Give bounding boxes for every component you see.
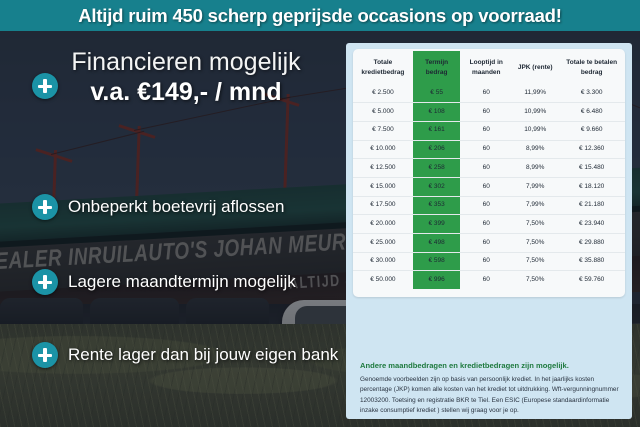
table-body: € 2.500€ 556011,99%€ 3.300 € 5.000€ 1086… [353,85,625,290]
table-header-row: Totale kredietbedrag Termijn bedrag Loop… [353,51,625,85]
table-row: € 17.500€ 353607,99%€ 21.180 [353,196,625,215]
cell-monthly-amount: € 353 [413,196,461,215]
cell-total-payable: € 3.300 [558,85,625,103]
cell-duration: 60 [460,103,512,122]
headline-secondary: v.a. €149,- / mnd [30,77,342,108]
cell-monthly-amount: € 996 [413,271,461,289]
cell-total-payable: € 12.360 [558,140,625,159]
table-row: € 5.000€ 1086010,99%€ 6.480 [353,103,625,122]
header-text: JPK (rente) [518,64,553,71]
cell-total-credit: € 25.000 [353,234,413,253]
cell-total-credit: € 7.500 [353,121,413,140]
cell-interest: 7,50% [512,252,558,271]
table-row: € 20.000€ 399607,50%€ 23.940 [353,215,625,234]
note-body: Genoemde voorbeelden zijn op basis van p… [360,375,622,417]
cell-duration: 60 [460,85,512,103]
cell-interest: 7,99% [512,177,558,196]
cell-monthly-amount: € 399 [413,215,461,234]
credit-info-card: Totale kredietbedrag Termijn bedrag Loop… [346,43,632,419]
cell-monthly-amount: € 498 [413,234,461,253]
benefit-label: Onbeperkt boetevrij aflossen [68,197,284,217]
cell-duration: 60 [460,121,512,140]
cell-total-credit: € 20.000 [353,215,413,234]
table-row: € 2.500€ 556011,99%€ 3.300 [353,85,625,103]
cell-total-credit: € 15.000 [353,177,413,196]
table-row: € 25.000€ 498607,50%€ 29.880 [353,234,625,253]
header-text: Looptijd in maanden [470,59,503,76]
benefit-item-2: Lagere maandtermijn mogelijk [32,269,337,295]
cell-interest: 7,99% [512,196,558,215]
cell-total-credit: € 50.000 [353,271,413,289]
cell-duration: 60 [460,196,512,215]
cell-total-credit: € 5.000 [353,103,413,122]
table-row: € 7.500€ 1616010,99%€ 9.660 [353,121,625,140]
table-row: € 30.000€ 598607,50%€ 35.880 [353,252,625,271]
cell-interest: 7,50% [512,271,558,289]
cell-total-payable: € 21.180 [558,196,625,215]
cell-total-credit: € 17.500 [353,196,413,215]
cell-monthly-amount: € 55 [413,85,461,103]
cell-duration: 60 [460,271,512,289]
benefit-label: Lagere maandtermijn mogelijk [68,272,296,292]
table-row: € 15.000€ 302607,99%€ 18.120 [353,177,625,196]
benefit-item-1: Onbeperkt boetevrij aflossen [32,194,337,220]
cell-duration: 60 [460,234,512,253]
cell-total-credit: € 2.500 [353,85,413,103]
cell-interest: 10,99% [512,103,558,122]
note-title: Andere maandbedragen en kredietbedragen … [360,361,618,371]
cell-monthly-amount: € 108 [413,103,461,122]
benefit-label: Rente lager dan bij jouw eigen bank [68,345,338,365]
header-text: Termijn bedrag [425,59,448,76]
cell-monthly-amount: € 161 [413,121,461,140]
cell-interest: 8,99% [512,140,558,159]
cell-monthly-amount: € 258 [413,159,461,178]
cell-total-payable: € 9.660 [558,121,625,140]
cell-monthly-amount: € 598 [413,252,461,271]
promo-banner: Altijd ruim 450 scherp geprijsde occasio… [0,0,640,427]
cell-duration: 60 [460,252,512,271]
cell-duration: 60 [460,177,512,196]
cell-monthly-amount: € 302 [413,177,461,196]
header-bar: Altijd ruim 450 scherp geprijsde occasio… [0,0,640,31]
rates-table: Totale kredietbedrag Termijn bedrag Loop… [353,51,625,289]
column-header-interest: JPK (rente) [512,51,558,85]
cell-interest: 7,50% [512,234,558,253]
cell-total-credit: € 10.000 [353,140,413,159]
cell-total-payable: € 29.880 [558,234,625,253]
cell-total-payable: € 59.760 [558,271,625,289]
table-row: € 12.500€ 258608,99%€ 15.480 [353,159,625,178]
page-title: Altijd ruim 450 scherp geprijsde occasio… [78,5,562,27]
plus-icon [32,194,58,220]
cell-total-payable: € 23.940 [558,215,625,234]
cell-duration: 60 [460,159,512,178]
cell-total-payable: € 6.480 [558,103,625,122]
cell-total-payable: € 18.120 [558,177,625,196]
rates-table-container: Totale kredietbedrag Termijn bedrag Loop… [353,49,625,297]
column-header-total-payable: Totale te betalen bedrag [558,51,625,85]
column-header-total-credit: Totale kredietbedrag [353,51,413,85]
headline-block: Financieren mogelijk v.a. €149,- / mnd [30,49,342,108]
plus-icon [32,269,58,295]
cell-duration: 60 [460,215,512,234]
headline-primary: Financieren mogelijk [30,49,342,77]
cell-interest: 10,99% [512,121,558,140]
left-content-column: Financieren mogelijk v.a. €149,- / mnd O… [0,31,345,427]
plus-icon [32,342,58,368]
cell-interest: 8,99% [512,159,558,178]
table-head: Totale kredietbedrag Termijn bedrag Loop… [353,51,625,85]
cell-total-payable: € 15.480 [558,159,625,178]
cell-monthly-amount: € 206 [413,140,461,159]
table-row: € 50.000€ 996607,50%€ 59.760 [353,271,625,289]
column-header-duration: Looptijd in maanden [460,51,512,85]
cell-total-payable: € 35.880 [558,252,625,271]
column-header-monthly-amount: Termijn bedrag [413,51,461,85]
header-text: Totale te betalen bedrag [566,59,617,76]
table-row: € 10.000€ 206608,99%€ 12.360 [353,140,625,159]
cell-interest: 11,99% [512,85,558,103]
cell-duration: 60 [460,140,512,159]
cell-total-credit: € 30.000 [353,252,413,271]
cell-interest: 7,50% [512,215,558,234]
benefit-item-3: Rente lager dan bij jouw eigen bank [32,342,337,368]
header-text: Totale kredietbedrag [361,59,404,76]
cell-total-credit: € 12.500 [353,159,413,178]
